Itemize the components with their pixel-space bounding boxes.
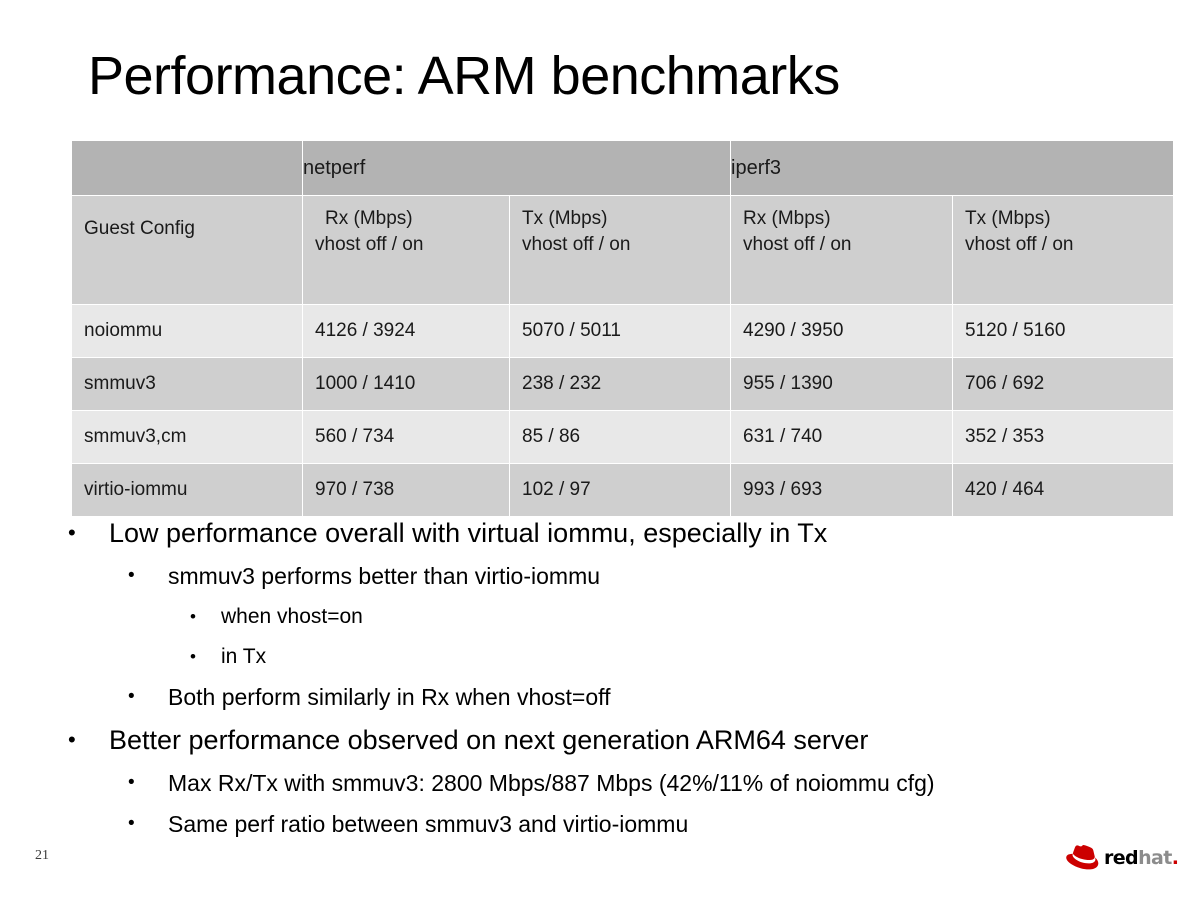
bullet-item: • Max Rx/Tx with smmuv3: 2800 Mbps/887 M… <box>0 764 1200 802</box>
cell-iperf3-rx: 4290 / 3950 <box>731 305 953 358</box>
logo-text-hat: hat <box>1138 847 1172 869</box>
cell-config: smmuv3 <box>72 358 303 411</box>
column-header-iperf3-tx-title: Tx (Mbps) <box>965 206 1173 232</box>
column-header-netperf-rx-sub: vhost off / on <box>315 232 509 258</box>
bullet-text: Max Rx/Tx with smmuv3: 2800 Mbps/887 Mbp… <box>168 764 1200 802</box>
group-header-netperf: netperf <box>303 141 731 196</box>
bullet-item: • Both perform similarly in Rx when vhos… <box>0 678 1200 716</box>
bullet-item: • in Tx <box>0 638 1200 675</box>
table-row: smmuv3 1000 / 1410 238 / 232 955 / 1390 … <box>72 358 1174 411</box>
cell-iperf3-rx: 955 / 1390 <box>731 358 953 411</box>
bullet-marker-icon: • <box>190 638 221 675</box>
redhat-logo: redhat. <box>1066 841 1178 875</box>
bullet-item: • when vhost=on <box>0 598 1200 635</box>
cell-iperf3-tx: 5120 / 5160 <box>953 305 1174 358</box>
column-header-netperf-tx-title: Tx (Mbps) <box>522 206 730 232</box>
page-title: Performance: ARM benchmarks <box>88 44 840 108</box>
redhat-wordmark: redhat. <box>1104 849 1178 868</box>
column-header-netperf-rx-title: Rx (Mbps) <box>315 206 509 232</box>
bullet-text: when vhost=on <box>221 598 1200 635</box>
column-header-iperf3-rx-title: Rx (Mbps) <box>743 206 952 232</box>
column-header-iperf3-rx-sub: vhost off / on <box>743 232 952 258</box>
table-row: smmuv3,cm 560 / 734 85 / 86 631 / 740 35… <box>72 411 1174 464</box>
bullet-item: • smmuv3 performs better than virtio-iom… <box>0 557 1200 595</box>
bullet-text: Both perform similarly in Rx when vhost=… <box>168 678 1200 716</box>
cell-config: virtio-iommu <box>72 464 303 517</box>
cell-netperf-rx: 4126 / 3924 <box>303 305 510 358</box>
bullet-text: Low performance overall with virtual iom… <box>109 512 1200 554</box>
column-header-netperf-rx: Rx (Mbps) vhost off / on <box>303 196 510 305</box>
bullet-marker-icon: • <box>190 598 221 635</box>
redhat-shadowman-icon <box>1066 845 1102 871</box>
bullet-marker-icon: • <box>68 719 109 761</box>
cell-netperf-rx: 970 / 738 <box>303 464 510 517</box>
bullet-marker-icon: • <box>128 764 168 802</box>
cell-iperf3-tx: 352 / 353 <box>953 411 1174 464</box>
cell-netperf-rx: 560 / 734 <box>303 411 510 464</box>
bullet-marker-icon: • <box>128 678 168 716</box>
column-header-guest-config: Guest Config <box>72 196 303 305</box>
bullet-item: • Better performance observed on next ge… <box>0 719 1200 761</box>
logo-text-dot: . <box>1172 847 1179 869</box>
column-header-iperf3-tx: Tx (Mbps) vhost off / on <box>953 196 1174 305</box>
cell-iperf3-tx: 706 / 692 <box>953 358 1174 411</box>
cell-config: noiommu <box>72 305 303 358</box>
table-group-header-row: netperf iperf3 <box>72 141 1174 196</box>
group-header-iperf3: iperf3 <box>731 141 1174 196</box>
cell-config: smmuv3,cm <box>72 411 303 464</box>
bullet-marker-icon: • <box>68 512 109 554</box>
cell-iperf3-rx: 993 / 693 <box>731 464 953 517</box>
cell-netperf-tx: 102 / 97 <box>510 464 731 517</box>
bullet-item: • Same perf ratio between smmuv3 and vir… <box>0 805 1200 843</box>
bullet-marker-icon: • <box>128 557 168 595</box>
bullet-text: Same perf ratio between smmuv3 and virti… <box>168 805 1200 843</box>
table-row: noiommu 4126 / 3924 5070 / 5011 4290 / 3… <box>72 305 1174 358</box>
column-header-netperf-tx: Tx (Mbps) vhost off / on <box>510 196 731 305</box>
column-header-iperf3-rx: Rx (Mbps) vhost off / on <box>731 196 953 305</box>
logo-text-red: red <box>1104 847 1138 869</box>
column-header-iperf3-tx-sub: vhost off / on <box>965 232 1173 258</box>
table-row: virtio-iommu 970 / 738 102 / 97 993 / 69… <box>72 464 1174 517</box>
cell-netperf-rx: 1000 / 1410 <box>303 358 510 411</box>
group-header-blank <box>72 141 303 196</box>
cell-netperf-tx: 238 / 232 <box>510 358 731 411</box>
bullet-text: Better performance observed on next gene… <box>109 719 1200 761</box>
bullet-item: • Low performance overall with virtual i… <box>0 512 1200 554</box>
bullet-list: • Low performance overall with virtual i… <box>0 512 1200 846</box>
bullet-marker-icon: • <box>128 805 168 843</box>
bullet-text: smmuv3 performs better than virtio-iommu <box>168 557 1200 595</box>
benchmark-table: netperf iperf3 Guest Config Rx (Mbps) vh… <box>71 140 1174 517</box>
table-column-header-row: Guest Config Rx (Mbps) vhost off / on Tx… <box>72 196 1174 305</box>
bullet-text: in Tx <box>221 638 1200 675</box>
column-header-netperf-tx-sub: vhost off / on <box>522 232 730 258</box>
page-number: 21 <box>35 848 49 864</box>
cell-netperf-tx: 5070 / 5011 <box>510 305 731 358</box>
cell-netperf-tx: 85 / 86 <box>510 411 731 464</box>
cell-iperf3-tx: 420 / 464 <box>953 464 1174 517</box>
cell-iperf3-rx: 631 / 740 <box>731 411 953 464</box>
